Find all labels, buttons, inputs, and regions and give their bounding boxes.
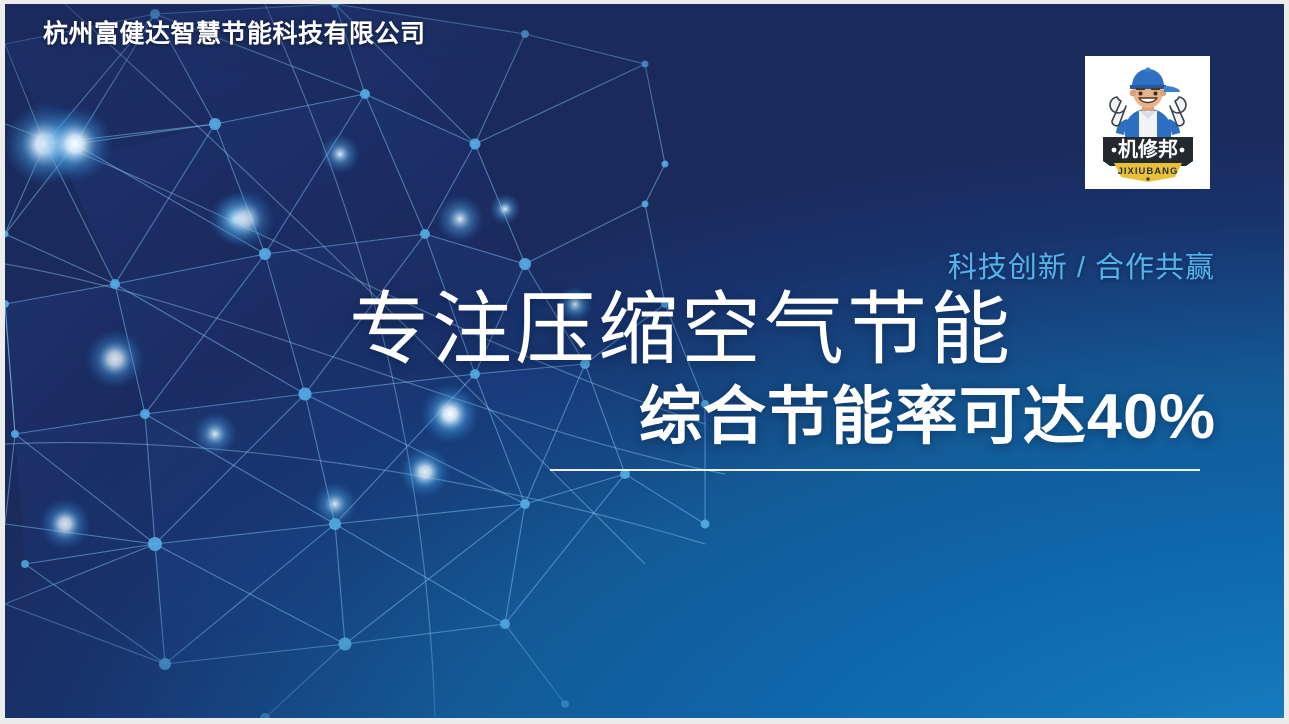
company-name: 杭州富健达智慧节能科技有限公司 — [43, 14, 426, 50]
logo-chinese-name: 机修邦 — [1118, 137, 1178, 161]
jixiubang-logo: 机修邦 JIXIUBANG — [1085, 56, 1210, 189]
headline-primary: 专注压缩空气节能 — [349, 291, 1013, 371]
headline-secondary: 综合节能率可达40% — [639, 386, 1216, 449]
divider-rule — [550, 469, 1200, 471]
logo-artwork: 机修邦 JIXIUBANG — [1092, 63, 1204, 183]
logo-pinyin-name: JIXIUBANG — [1117, 166, 1178, 177]
logo-nameplate: 机修邦 — [1103, 137, 1193, 166]
tagline: 科技创新 / 合作共赢 — [948, 244, 1215, 286]
logo-ribbon: JIXIUBANG — [1114, 163, 1182, 182]
banner-stage: 杭州富健达智慧节能科技有限公司 — [5, 4, 1284, 718]
promotional-banner: 杭州富健达智慧节能科技有限公司 — [0, 0, 1289, 724]
mechanic-figure-icon — [1110, 67, 1186, 141]
